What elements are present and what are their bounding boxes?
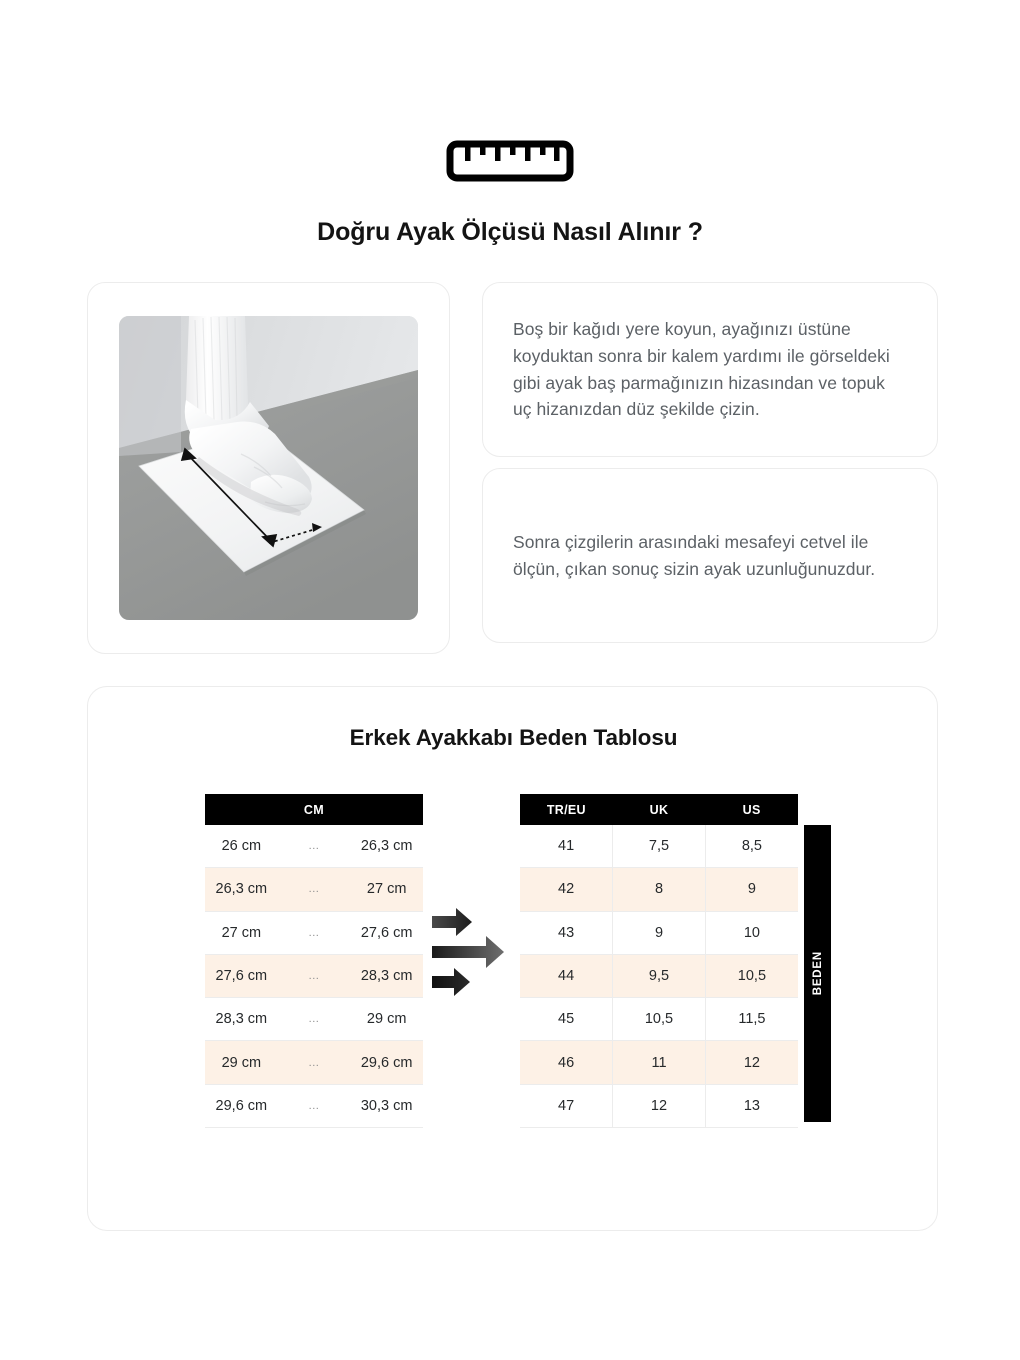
cm-to: 26,3 cm <box>350 825 423 868</box>
size-uk: 9,5 <box>613 954 706 997</box>
instruction-text-1: Boş bir kağıdı yere koyun, ayağınızı üst… <box>513 316 907 422</box>
cm-to: 27,6 cm <box>350 911 423 954</box>
ruler-icon <box>446 140 574 187</box>
cm-from: 28,3 cm <box>205 998 278 1041</box>
foot-photo-card <box>87 282 450 654</box>
table-row: 45 10,5 11,5 <box>520 998 798 1041</box>
cm-table-header-row: CM <box>205 794 423 825</box>
cm-to: 27 cm <box>350 868 423 911</box>
size-tr-eu: 46 <box>520 1041 613 1084</box>
cm-from: 29 cm <box>205 1041 278 1084</box>
cm-from: 29,6 cm <box>205 1084 278 1127</box>
size-us: 11,5 <box>705 998 798 1041</box>
cm-to: 29 cm <box>350 998 423 1041</box>
cm-separator: ... <box>278 825 351 868</box>
size-chart-card: Erkek Ayakkabı Beden Tablosu CM 26 cm ..… <box>87 686 938 1231</box>
cm-to: 30,3 cm <box>350 1084 423 1127</box>
table-row: 42 8 9 <box>520 868 798 911</box>
size-table-wrapper: TR/EU UK US 41 7,5 8,5 42 8 <box>520 794 836 1128</box>
size-uk: 12 <box>613 1084 706 1127</box>
size-us: 10 <box>705 911 798 954</box>
table-row: 46 11 12 <box>520 1041 798 1084</box>
table-row: 29 cm ... 29,6 cm <box>205 1041 423 1084</box>
size-us: 8,5 <box>705 825 798 868</box>
instruction-card-1: Boş bir kağıdı yere koyun, ayağınızı üst… <box>482 282 938 457</box>
size-table: TR/EU UK US 41 7,5 8,5 42 8 <box>520 794 798 1128</box>
instructions-section: Boş bir kağıdı yere koyun, ayağınızı üst… <box>87 282 938 654</box>
cm-table: CM 26 cm ... 26,3 cm 26,3 cm ... 27 cm <box>205 794 423 1128</box>
size-uk: 7,5 <box>613 825 706 868</box>
cm-separator: ... <box>278 1041 351 1084</box>
table-row: 28,3 cm ... 29 cm <box>205 998 423 1041</box>
foot-photo-frame <box>119 316 418 620</box>
ruler-icon-container <box>0 140 1020 187</box>
table-row: 26 cm ... 26,3 cm <box>205 825 423 868</box>
cm-separator: ... <box>278 1084 351 1127</box>
size-tr-eu: 44 <box>520 954 613 997</box>
size-uk: 11 <box>613 1041 706 1084</box>
table-row: 47 12 13 <box>520 1084 798 1127</box>
table-row: 26,3 cm ... 27 cm <box>205 868 423 911</box>
table-row: 27 cm ... 27,6 cm <box>205 911 423 954</box>
size-us: 13 <box>705 1084 798 1127</box>
cm-separator: ... <box>278 954 351 997</box>
table-row: 29,6 cm ... 30,3 cm <box>205 1084 423 1127</box>
cm-from: 27 cm <box>205 911 278 954</box>
size-uk: 10,5 <box>613 998 706 1041</box>
size-us: 9 <box>705 868 798 911</box>
size-tr-eu: 41 <box>520 825 613 868</box>
cm-separator: ... <box>278 998 351 1041</box>
beden-side-bar: BEDEN <box>804 825 831 1122</box>
table-row: 44 9,5 10,5 <box>520 954 798 997</box>
size-us: 10,5 <box>705 954 798 997</box>
cm-from: 27,6 cm <box>205 954 278 997</box>
size-guide-page: Doğru Ayak Ölçüsü Nasıl Alınır ? <box>0 0 1020 1360</box>
cm-from: 26 cm <box>205 825 278 868</box>
three-right-arrows-icon <box>428 902 520 1002</box>
size-tables-area: CM 26 cm ... 26,3 cm 26,3 cm ... 27 cm <box>88 794 939 1124</box>
size-tr-eu: 43 <box>520 911 613 954</box>
size-header-us: US <box>705 794 798 825</box>
page-title: Doğru Ayak Ölçüsü Nasıl Alınır ? <box>0 218 1020 247</box>
size-header-uk: UK <box>613 794 706 825</box>
size-uk: 9 <box>613 911 706 954</box>
cm-to: 28,3 cm <box>350 954 423 997</box>
foot-measurement-photo <box>119 316 418 620</box>
size-tr-eu: 42 <box>520 868 613 911</box>
size-us: 12 <box>705 1041 798 1084</box>
size-header-tr-eu: TR/EU <box>520 794 613 825</box>
size-chart-title: Erkek Ayakkabı Beden Tablosu <box>88 725 939 751</box>
table-row: 27,6 cm ... 28,3 cm <box>205 954 423 997</box>
instruction-card-2: Sonra çizgilerin arasındaki mesafeyi cet… <box>482 468 938 643</box>
table-row: 43 9 10 <box>520 911 798 954</box>
cm-separator: ... <box>278 911 351 954</box>
instruction-text-2: Sonra çizgilerin arasındaki mesafeyi cet… <box>513 529 907 582</box>
table-row: 41 7,5 8,5 <box>520 825 798 868</box>
cm-table-header-cell: CM <box>205 794 423 825</box>
size-tr-eu: 45 <box>520 998 613 1041</box>
size-tr-eu: 47 <box>520 1084 613 1127</box>
cm-from: 26,3 cm <box>205 868 278 911</box>
size-table-header-row: TR/EU UK US <box>520 794 798 825</box>
cm-separator: ... <box>278 868 351 911</box>
size-uk: 8 <box>613 868 706 911</box>
cm-to: 29,6 cm <box>350 1041 423 1084</box>
beden-label: BEDEN <box>812 951 824 995</box>
